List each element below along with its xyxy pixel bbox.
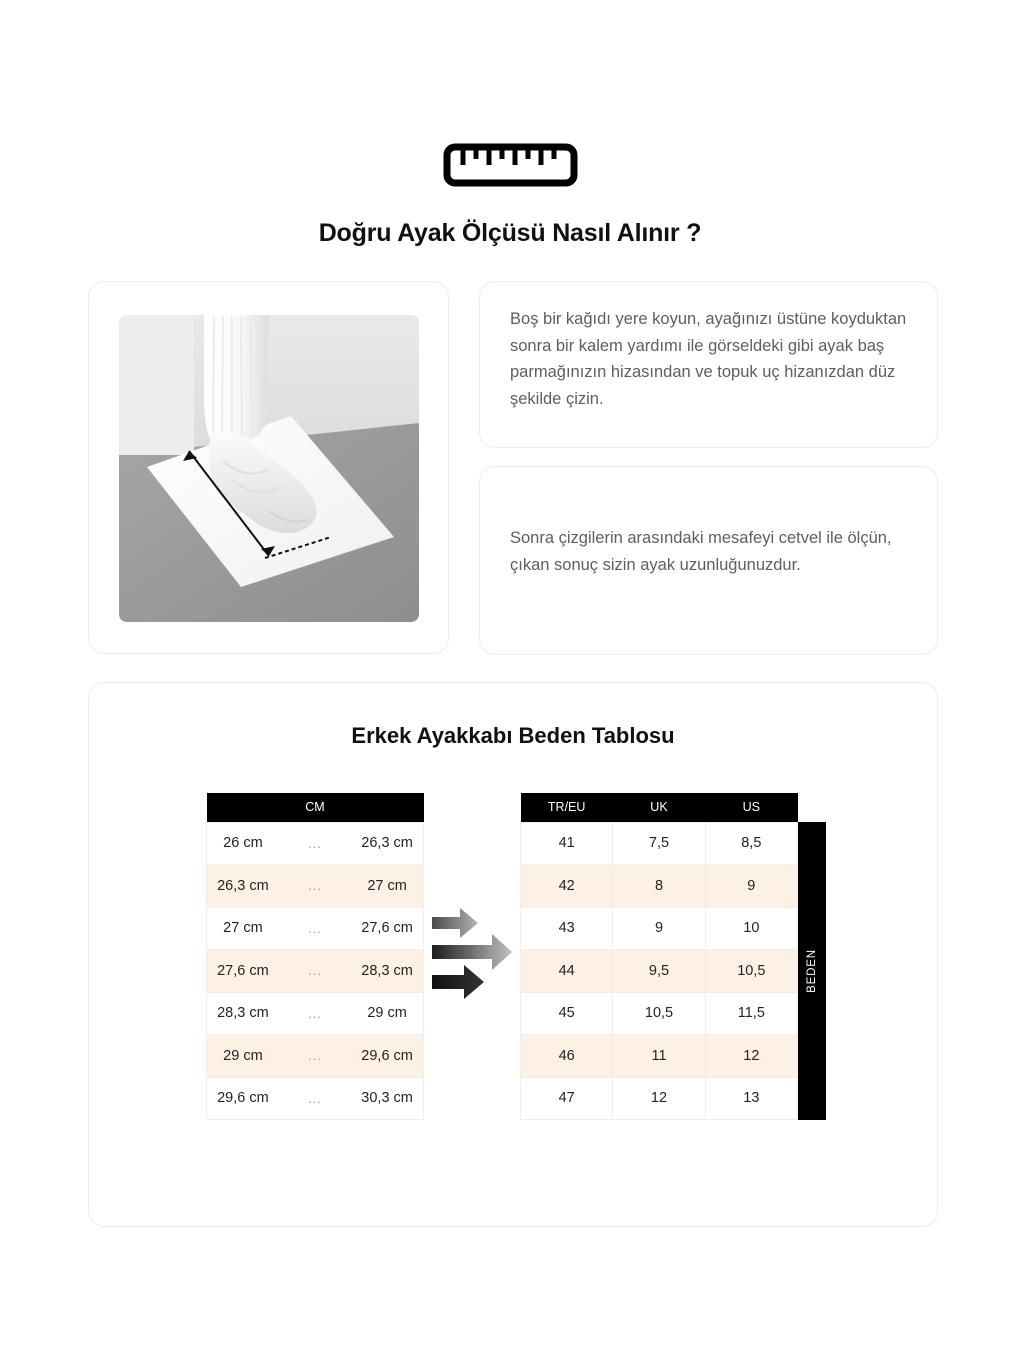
cell-uk: 12	[613, 1077, 705, 1120]
cm-high: 29,6 cm	[351, 1035, 423, 1078]
cm-high: 27 cm	[351, 865, 423, 908]
table-row: 43 9 10	[521, 907, 798, 950]
beden-side-bar: BEDEN	[798, 822, 826, 1120]
cm-low: 28,3 cm	[207, 992, 279, 1035]
cell-tr-eu: 47	[521, 1077, 613, 1120]
cm-separator: ...	[279, 950, 351, 993]
cell-us: 8,5	[705, 822, 797, 865]
cm-separator: ...	[279, 865, 351, 908]
cell-us: 10	[705, 907, 797, 950]
table-row: 26,3 cm ... 27 cm	[207, 865, 424, 908]
cm-separator: ...	[279, 907, 351, 950]
table-row: 42 8 9	[521, 865, 798, 908]
size-table-card: Erkek Ayakkabı Beden Tablosu CM 26 cm ..…	[88, 682, 938, 1227]
table-row: 27,6 cm ... 28,3 cm	[207, 950, 424, 993]
cell-uk: 8	[613, 865, 705, 908]
instruction-card-1: Boş bir kağıdı yere koyun, ayağınızı üst…	[479, 281, 938, 448]
cm-table-header: CM	[207, 793, 424, 822]
cm-table: CM 26 cm ... 26,3 cm 26,3 cm ... 27 cm	[206, 793, 424, 1120]
cm-separator: ...	[279, 992, 351, 1035]
instruction-card-2: Sonra çizgilerin arasındaki mesafeyi cet…	[479, 466, 938, 655]
page-title: Doğru Ayak Ölçüsü Nasıl Alınır ?	[0, 219, 1020, 248]
instruction-text-2: Sonra çizgilerin arasındaki mesafeyi cet…	[510, 525, 909, 578]
cell-tr-eu: 43	[521, 907, 613, 950]
cm-table-header-row: CM	[207, 793, 424, 822]
cell-us: 9	[705, 865, 797, 908]
cell-tr-eu: 46	[521, 1035, 613, 1078]
cell-uk: 11	[613, 1035, 705, 1078]
ruler-icon	[443, 143, 578, 187]
size-guide-page: Doğru Ayak Ölçüsü Nasıl Alınır ?	[0, 0, 1020, 1360]
cell-tr-eu: 45	[521, 992, 613, 1035]
size-table-title: Erkek Ayakkabı Beden Tablosu	[89, 723, 937, 749]
cm-high: 28,3 cm	[351, 950, 423, 993]
column-header-tr-eu: TR/EU	[521, 793, 613, 822]
cm-high: 27,6 cm	[351, 907, 423, 950]
table-row: 27 cm ... 27,6 cm	[207, 907, 424, 950]
foot-on-paper-illustration	[119, 315, 419, 622]
table-row: 28,3 cm ... 29 cm	[207, 992, 424, 1035]
size-table-header-row: TR/EU UK US	[521, 793, 798, 822]
size-tables-area: CM 26 cm ... 26,3 cm 26,3 cm ... 27 cm	[89, 793, 939, 1133]
cell-tr-eu: 44	[521, 950, 613, 993]
cm-low: 27,6 cm	[207, 950, 279, 993]
cm-high: 30,3 cm	[351, 1077, 423, 1120]
ruler-icon-container	[0, 143, 1020, 187]
cm-separator: ...	[279, 1077, 351, 1120]
instruction-text-1: Boş bir kağıdı yere koyun, ayağınızı üst…	[510, 306, 909, 412]
cell-us: 13	[705, 1077, 797, 1120]
cm-low: 29 cm	[207, 1035, 279, 1078]
cell-uk: 9	[613, 907, 705, 950]
table-row: 47 12 13	[521, 1077, 798, 1120]
arrows-right-icon-group	[430, 903, 522, 1003]
cm-separator: ...	[279, 822, 351, 865]
cell-us: 12	[705, 1035, 797, 1078]
foot-measure-photo	[119, 315, 419, 622]
beden-label: BEDEN	[806, 949, 818, 993]
size-conversion-table: TR/EU UK US 41 7,5 8,5 42 8 9	[520, 793, 798, 1120]
cm-low: 27 cm	[207, 907, 279, 950]
cell-tr-eu: 42	[521, 865, 613, 908]
cell-uk: 10,5	[613, 992, 705, 1035]
table-row: 44 9,5 10,5	[521, 950, 798, 993]
column-header-us: US	[705, 793, 797, 822]
table-row: 46 11 12	[521, 1035, 798, 1078]
cell-uk: 9,5	[613, 950, 705, 993]
cell-us: 11,5	[705, 992, 797, 1035]
cell-tr-eu: 41	[521, 822, 613, 865]
cell-us: 10,5	[705, 950, 797, 993]
cm-high: 26,3 cm	[351, 822, 423, 865]
table-row: 29 cm ... 29,6 cm	[207, 1035, 424, 1078]
table-row: 26 cm ... 26,3 cm	[207, 822, 424, 865]
column-header-uk: UK	[613, 793, 705, 822]
instruction-photo-card	[88, 281, 449, 654]
table-row: 45 10,5 11,5	[521, 992, 798, 1035]
cm-separator: ...	[279, 1035, 351, 1078]
cm-high: 29 cm	[351, 992, 423, 1035]
arrows-right-icon	[430, 903, 522, 1003]
table-row: 29,6 cm ... 30,3 cm	[207, 1077, 424, 1120]
cm-low: 26,3 cm	[207, 865, 279, 908]
cell-uk: 7,5	[613, 822, 705, 865]
table-row: 41 7,5 8,5	[521, 822, 798, 865]
cm-low: 29,6 cm	[207, 1077, 279, 1120]
cm-low: 26 cm	[207, 822, 279, 865]
